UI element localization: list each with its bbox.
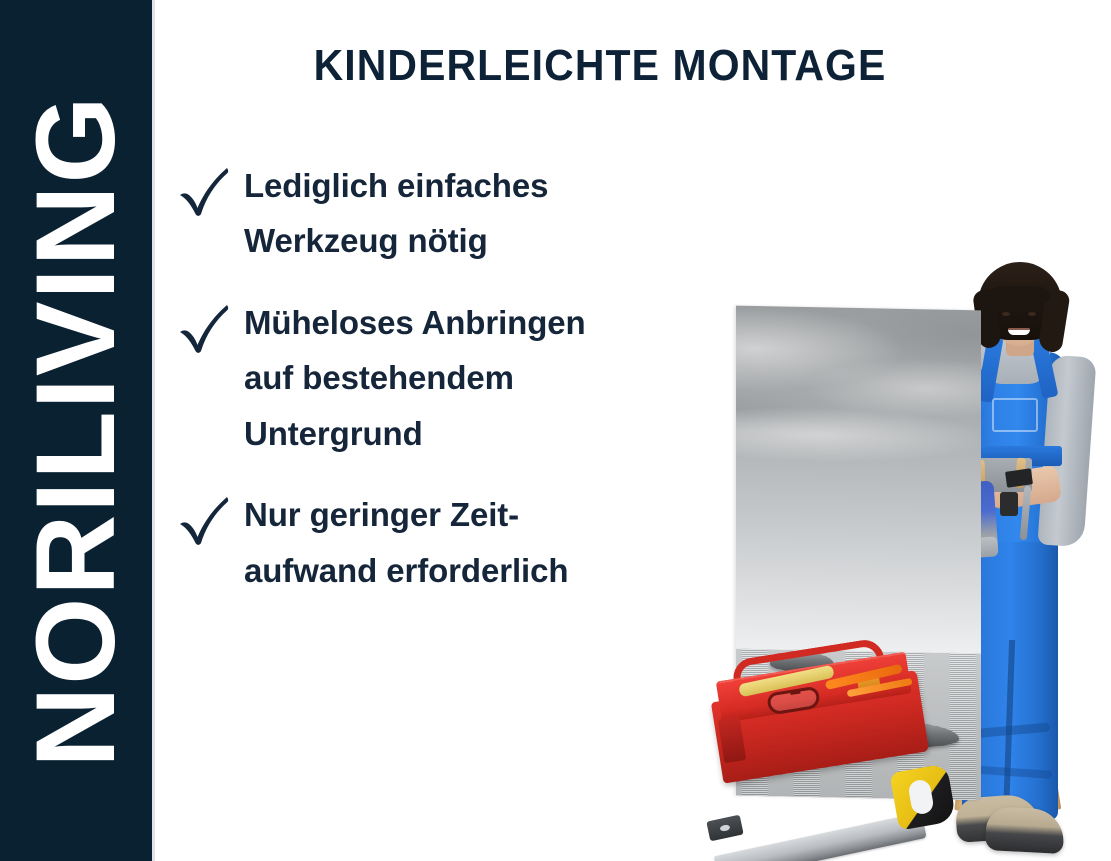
bib-pocket [992, 398, 1038, 432]
benefit-line: Werkzeug nötig [244, 213, 698, 268]
list-item: Nur geringer Zeit- aufwand erforderlich [178, 487, 698, 598]
eye [1002, 312, 1010, 316]
check-mark-icon [178, 164, 230, 218]
benefit-line: Nur geringer Zeit- [244, 487, 698, 542]
check-mark-icon [178, 301, 230, 355]
benefit-text: Lediglich einfaches Werkzeug nötig [244, 158, 698, 269]
brand-sidebar-edge [152, 0, 155, 861]
tool-dark [1000, 492, 1018, 516]
brand-name: NORILIVING [20, 94, 132, 767]
page-title: KINDERLEICHTE MONTAGE [219, 42, 982, 90]
list-item: Lediglich einfaches Werkzeug nötig [178, 158, 698, 269]
benefit-text: Nur geringer Zeit- aufwand erforderlich [244, 487, 698, 598]
eye [1028, 312, 1036, 316]
benefit-line: Untergrund [244, 406, 698, 461]
panel-sky [736, 306, 981, 615]
check-mark-icon [178, 493, 230, 547]
saw-blade [714, 812, 927, 861]
benefit-line: Lediglich einfaches [244, 158, 698, 213]
benefit-list: Lediglich einfaches Werkzeug nötig Mühel… [178, 158, 698, 624]
product-photo [700, 140, 1111, 861]
benefit-line: aufwand erforderlich [244, 543, 698, 598]
promo-banner: NORILIVING KINDERLEICHTE MONTAGE Ledigli… [0, 0, 1111, 861]
benefit-line: Müheloses Anbringen [244, 295, 698, 350]
list-item: Müheloses Anbringen auf bestehendem Unte… [178, 295, 698, 461]
smiling-mouth [1008, 328, 1030, 335]
benefit-line: auf bestehendem [244, 350, 698, 405]
hair-fringe [988, 286, 1050, 308]
brand-sidebar: NORILIVING [0, 0, 152, 861]
benefit-text: Müheloses Anbringen auf bestehendem Unte… [244, 295, 698, 461]
